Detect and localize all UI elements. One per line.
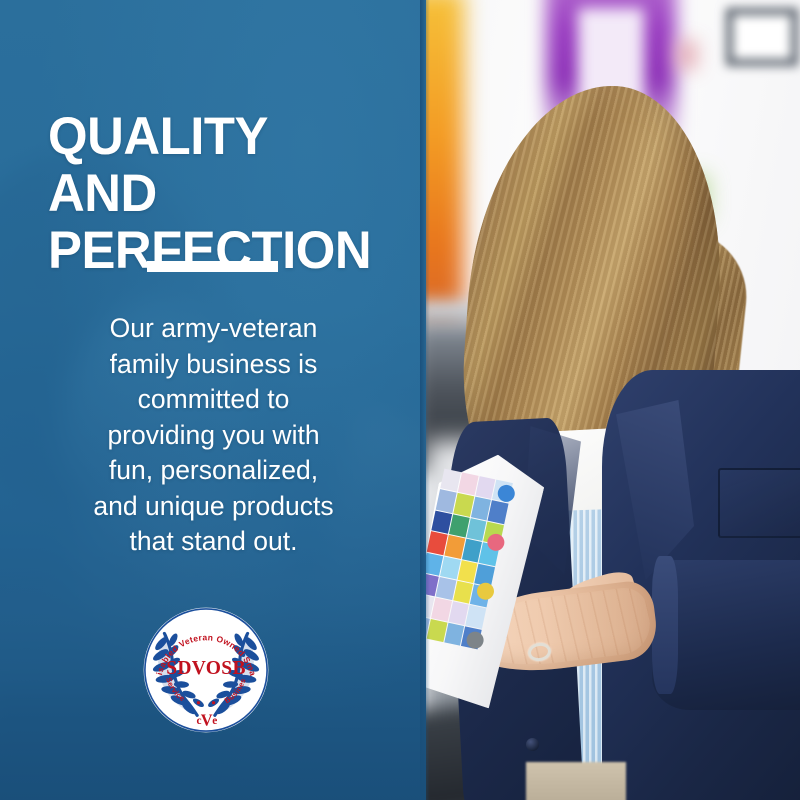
panel-content: QUALITY AND PERFECTION Our army-veteran … <box>0 0 426 800</box>
body-line-7: that stand out. <box>130 526 298 556</box>
hero-photo <box>426 0 800 800</box>
sdvosb-badge: Disabled Veteran Owned Small Service Bus… <box>143 607 269 733</box>
headline-line-1: QUALITY AND <box>48 107 267 223</box>
body-line-6: and unique products <box>93 491 333 521</box>
body-line-4: providing you with <box>107 420 319 450</box>
body-line-3: committed to <box>138 384 290 414</box>
orange-banner-background <box>426 0 464 320</box>
badge-center-text: SDVOSB <box>166 658 246 679</box>
wall-accent-pink-top <box>676 40 698 70</box>
swatch-dot <box>496 483 516 503</box>
marketing-banner: QUALITY AND PERFECTION Our army-veteran … <box>0 0 800 800</box>
swatch-dot <box>465 630 485 650</box>
sdvosb-seal-graphic: Disabled Veteran Owned Small Service Bus… <box>143 607 269 733</box>
badge-dot-right <box>212 701 215 704</box>
blazer-pocket <box>718 468 800 538</box>
framed-picture-background <box>726 8 798 66</box>
trousers <box>526 762 626 800</box>
badge-cve-v: V <box>201 710 213 729</box>
body-copy: Our army-veteran family business is comm… <box>26 311 401 560</box>
swatch-dot <box>486 532 506 552</box>
swatch-dot <box>475 581 495 601</box>
body-line-2: family business is <box>110 349 318 379</box>
body-line-1: Our army-veteran <box>110 313 318 343</box>
badge-dot-left <box>197 701 200 704</box>
body-line-5: fun, personalized, <box>109 455 318 485</box>
badge-cve-e: e <box>212 715 217 727</box>
title-divider <box>147 261 278 272</box>
page-title: QUALITY AND PERFECTION <box>48 108 379 279</box>
blazer-button-bottom <box>526 738 539 751</box>
